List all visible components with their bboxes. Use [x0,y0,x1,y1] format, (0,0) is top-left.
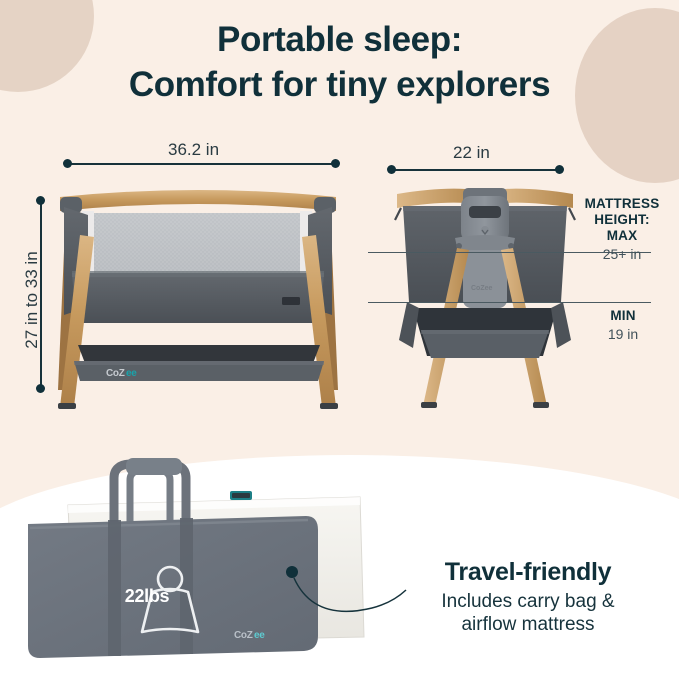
front-width-dimension-line [68,163,336,165]
svg-text:ee: ee [254,630,265,641]
side-width-dimension-line [392,169,560,171]
mattress-height-min-label: MIN [578,308,668,324]
pointer-dot-icon [286,566,298,578]
svg-text:CoZ: CoZ [106,368,125,379]
side-width-dot-right [555,165,564,174]
title-line-1: Portable sleep: [217,20,462,59]
side-width-label: 22 in [453,143,490,163]
mattress-height-min-callout: MIN 19 in [578,308,668,342]
carry-bag: CoZ ee [22,440,322,670]
title-line-2: Comfort for tiny explorers [0,63,679,108]
svg-text:CoZee: CoZee [471,285,493,292]
infographic-canvas: Portable sleep: Comfort for tiny explore… [0,0,679,679]
mattress-height-title-line1: MATTRESS [570,196,674,212]
mattress-height-title-line2: HEIGHT: [570,212,674,228]
bassinet-front-view: CoZ ee [38,175,358,415]
height-range-label: 27 in to 33 in [22,230,42,370]
travel-friendly-heading: Travel-friendly [378,558,678,587]
travel-sub-line-1: Includes carry bag & [378,590,678,613]
mattress-height-min-value: 19 in [578,326,668,343]
height-dot-top [36,196,45,205]
svg-text:CoZ: CoZ [234,630,253,641]
mattress-height-max-value: 25+ in [570,246,674,263]
front-width-dot-left [63,159,72,168]
page-title: Portable sleep: Comfort for tiny explore… [0,18,679,108]
travel-sub-line-2: airflow mattress [378,613,678,636]
front-width-label: 36.2 in [168,140,219,160]
side-width-dot-left [387,165,396,174]
front-width-dot-right [331,159,340,168]
weight-badge-label: 22lbs [107,586,187,607]
min-height-reference-line [368,302,651,303]
mattress-height-max-label: MAX [570,228,674,244]
mattress-height-max-callout: MATTRESS HEIGHT: MAX 25+ in [570,196,674,262]
svg-text:ee: ee [126,368,137,379]
bassinet-side-view: CoZee [385,180,585,410]
travel-friendly-subtext: Includes carry bag & airflow mattress [378,590,678,636]
height-dot-bottom [36,384,45,393]
